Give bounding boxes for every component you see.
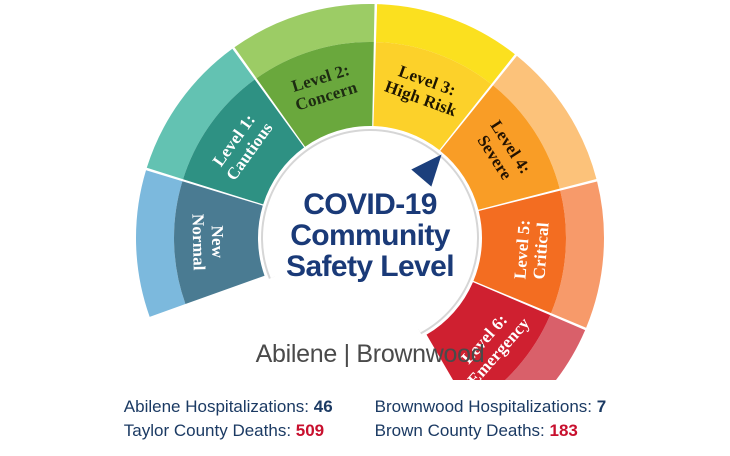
stat-line: Brownwood Hospitalizations: 7 [375, 396, 607, 418]
covid-safety-level-infographic: NewNormalLevel 1:CautiousLevel 2:Concern… [0, 0, 730, 456]
stat-value: 7 [597, 397, 606, 416]
stat-line: Abilene Hospitalizations: 46 [124, 396, 333, 418]
stat-label: Brown County Deaths: [375, 421, 550, 440]
gauge-segment-label-5: Level 5:Critical [510, 219, 552, 281]
safety-level-gauge: NewNormalLevel 1:CautiousLevel 2:Concern… [0, 0, 730, 380]
gauge-svg: NewNormalLevel 1:CautiousLevel 2:Concern… [0, 0, 730, 380]
stat-label: Abilene Hospitalizations: [124, 397, 314, 416]
stat-label: Taylor County Deaths: [124, 421, 296, 440]
gauge-segment-group [136, 4, 604, 380]
region-label: Abilene | Brownwood [165, 340, 575, 369]
gauge-inner-ring [264, 132, 476, 332]
stat-value: 46 [314, 397, 333, 416]
stat-value: 509 [296, 421, 324, 440]
stat-line: Brown County Deaths: 183 [375, 420, 607, 442]
gauge-label-group-5: Level 5:Critical [510, 219, 552, 281]
stat-label: Brownwood Hospitalizations: [375, 397, 597, 416]
stats-column-abilene: Abilene Hospitalizations: 46Taylor Count… [124, 396, 333, 442]
stats-column-brownwood: Brownwood Hospitalizations: 7Brown Count… [375, 396, 607, 442]
stat-value: 183 [549, 421, 577, 440]
stat-line: Taylor County Deaths: 509 [124, 420, 333, 442]
statistics-row: Abilene Hospitalizations: 46Taylor Count… [0, 396, 730, 442]
